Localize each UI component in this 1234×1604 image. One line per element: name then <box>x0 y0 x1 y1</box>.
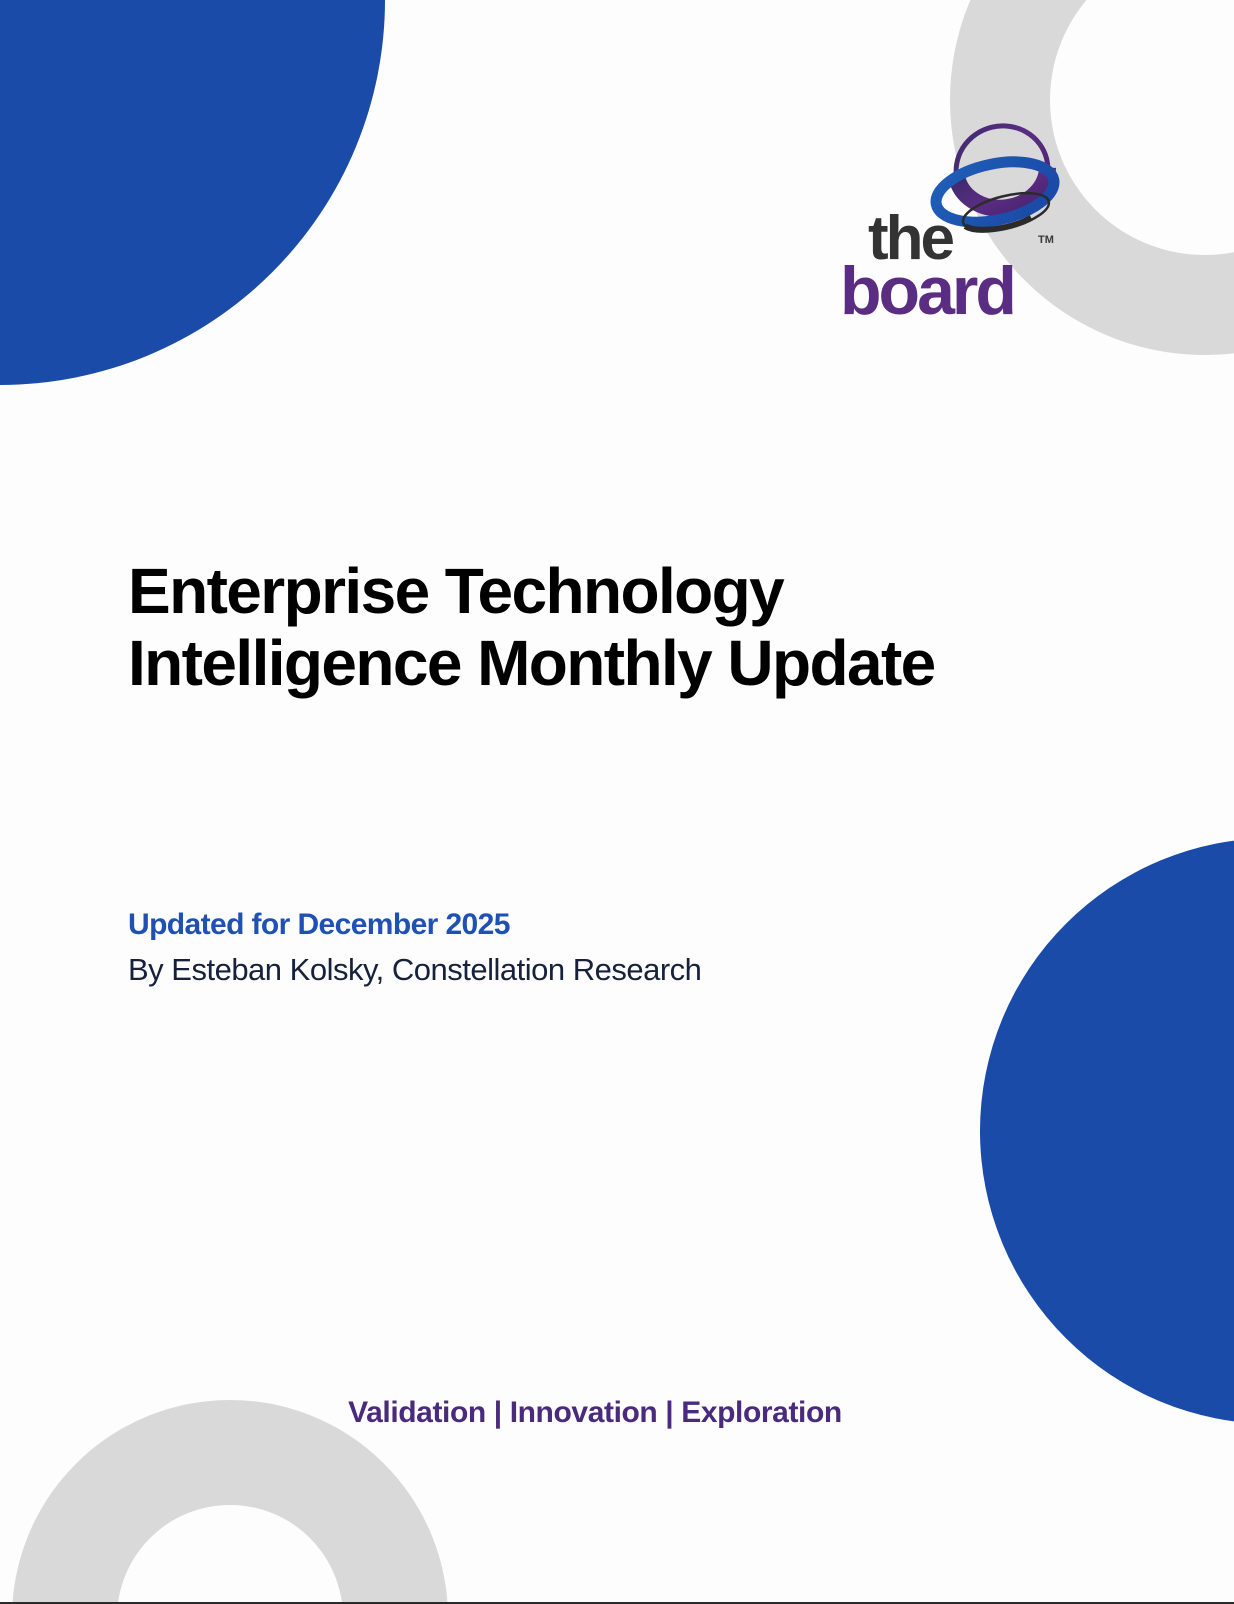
logo-wordmark: the board <box>840 214 1070 334</box>
document-cover-page: the board TM Enterprise Technology Intel… <box>0 0 1234 1604</box>
the-board-logo: the board TM <box>840 112 1070 334</box>
logo-word-board: board <box>840 264 1070 318</box>
updated-label: Updated for December 2025 <box>128 908 1028 942</box>
blue-quarter-circle-top-left-decoration <box>0 0 385 385</box>
gray-ring-bottom-left-decoration <box>12 1400 448 1604</box>
title-block: Enterprise Technology Intelligence Month… <box>128 556 1088 699</box>
brand-tagline: Validation | Innovation | Exploration <box>0 1396 1190 1430</box>
trademark-icon: TM <box>1038 234 1054 246</box>
subtitle-block: Updated for December 2025 By Esteban Kol… <box>128 908 1028 988</box>
page-title: Enterprise Technology Intelligence Month… <box>128 556 988 699</box>
author-line: By Esteban Kolsky, Constellation Researc… <box>128 952 1028 988</box>
